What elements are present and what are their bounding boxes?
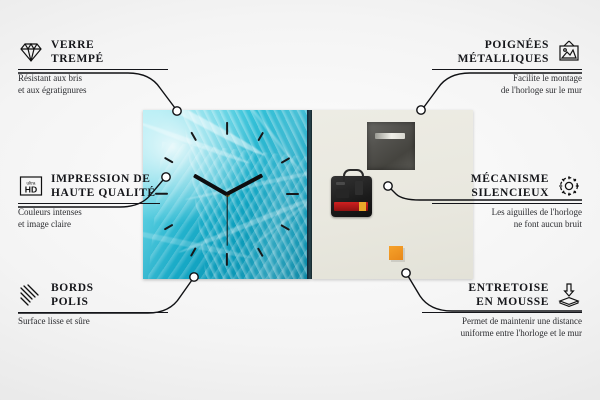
callout-header: POIGNÉES MÉTALLIQUES — [432, 38, 582, 66]
clock-tick — [257, 131, 263, 140]
callout-header: ultra HD IMPRESSION DE HAUTE QUALITÉ — [18, 172, 168, 200]
callout-title: VERRE TREMPÉ — [51, 38, 104, 66]
callout-rule — [18, 203, 160, 204]
clock-tick — [286, 193, 299, 195]
clock-hand — [226, 194, 227, 246]
clock-face-panel — [143, 110, 311, 279]
callout-verre-trempe: VERRE TREMPÉ Résistant aux bris et aux é… — [18, 38, 168, 97]
clock-dial — [143, 110, 311, 279]
clock-tick — [190, 247, 196, 256]
clock-tick — [257, 247, 263, 256]
clock-tick — [280, 224, 289, 230]
infographic-canvas: VERRE TREMPÉ Résistant aux bris et aux é… — [0, 0, 600, 400]
mechanism-detail — [336, 189, 349, 198]
callout-title-line1: POIGNÉES — [485, 39, 549, 51]
hanger-slot — [375, 133, 405, 139]
callout-header: ENTRETOISE EN MOUSSE — [422, 281, 582, 309]
callout-subtitle: Surface lisse et sûre — [18, 316, 168, 328]
callout-title: POIGNÉES MÉTALLIQUES — [458, 38, 549, 66]
callout-title-line1: ENTRETOISE — [468, 282, 549, 294]
callout-title-line1: IMPRESSION DE — [51, 173, 151, 185]
callout-sub-line1: Couleurs intenses — [18, 207, 82, 217]
callout-title: ENTRETOISE EN MOUSSE — [468, 281, 549, 309]
callout-title-line2: HAUTE QUALITÉ — [51, 187, 156, 199]
callout-subtitle: Résistant aux bris et aux égratignures — [18, 73, 168, 97]
clock-hand — [226, 173, 263, 195]
callout-subtitle: Facilite le montage de l'horloge sur le … — [432, 73, 582, 97]
callout-title-line1: VERRE — [51, 39, 94, 51]
callout-title: BORDS POLIS — [51, 281, 94, 309]
clock-tick — [164, 157, 173, 163]
callout-sub-line1: Résistant aux bris — [18, 73, 82, 83]
mechanism-detail — [355, 181, 363, 195]
polished-edges-icon — [18, 282, 44, 308]
battery-terminal — [359, 202, 366, 211]
hanger-plate — [367, 122, 415, 170]
callout-header: VERRE TREMPÉ — [18, 38, 168, 66]
callout-header: BORDS POLIS — [18, 281, 168, 309]
ultra-hd-icon: ultra HD — [18, 173, 44, 199]
callout-sub-line1: Les aiguilles de l'horloge — [492, 207, 582, 217]
callout-subtitle: Les aiguilles de l'horloge ne font aucun… — [432, 207, 582, 231]
callout-subtitle: Couleurs intenses et image claire — [18, 207, 168, 231]
callout-title: MÉCANISME SILENCIEUX — [471, 172, 549, 200]
callout-sub-line2: ne font aucun bruit — [514, 219, 582, 229]
callout-sub-line2: de l'horloge sur le mur — [501, 85, 582, 95]
svg-text:HD: HD — [25, 185, 37, 195]
clock-tick — [226, 122, 228, 135]
callout-sub-line2: et aux égratignures — [18, 85, 86, 95]
clock-hand — [193, 173, 228, 196]
callout-rule — [422, 312, 582, 313]
gear-icon — [556, 173, 582, 199]
callout-bords-polis: BORDS POLIS Surface lisse et sûre — [18, 281, 168, 328]
callout-sub-line1: Facilite le montage — [513, 73, 582, 83]
callout-title-line2: TREMPÉ — [51, 53, 104, 65]
callout-rule — [432, 69, 582, 70]
clock-tick — [226, 253, 228, 266]
clock-tick — [280, 157, 289, 163]
callout-title-line1: MÉCANISME — [471, 173, 549, 185]
callout-title-line2: POLIS — [51, 296, 89, 308]
diamond-icon — [18, 39, 44, 65]
foam-spacer-icon — [556, 282, 582, 308]
callout-entretoise-en-mousse: ENTRETOISE EN MOUSSE Permet de maintenir… — [422, 281, 582, 340]
callout-title-line2: MÉTALLIQUES — [458, 53, 549, 65]
clock-mechanism — [331, 176, 372, 217]
callout-sub-line2: uniforme entre l'horloge et le mur — [461, 328, 582, 338]
callout-rule — [18, 69, 168, 70]
callout-rule — [18, 312, 168, 313]
callout-subtitle: Permet de maintenir une distance uniform… — [422, 316, 582, 340]
callout-title-line2: EN MOUSSE — [476, 296, 549, 308]
callout-sub-line1: Surface lisse et sûre — [18, 316, 90, 326]
callout-title-line1: BORDS — [51, 282, 94, 294]
callout-mecanisme-silencieux: MÉCANISME SILENCIEUX Les aiguilles de l'… — [432, 172, 582, 231]
callout-title: IMPRESSION DE HAUTE QUALITÉ — [51, 172, 156, 200]
product-photo — [143, 110, 473, 279]
mechanism-detail — [336, 182, 345, 185]
callout-title-line2: SILENCIEUX — [471, 187, 549, 199]
callout-header: MÉCANISME SILENCIEUX — [432, 172, 582, 200]
callout-rule — [432, 203, 582, 204]
callout-impression-haute-qualite: ultra HD IMPRESSION DE HAUTE QUALITÉ Cou… — [18, 172, 168, 231]
callout-sub-line1: Permet de maintenir une distance — [462, 316, 582, 326]
mechanism-hanging-loop — [343, 169, 364, 181]
callout-poignees-metalliques: POIGNÉES MÉTALLIQUES Facilite le montage… — [432, 38, 582, 97]
callout-sub-line2: et image claire — [18, 219, 71, 229]
foam-spacer — [389, 246, 403, 260]
picture-frame-icon — [556, 39, 582, 65]
clock-tick — [190, 131, 196, 140]
